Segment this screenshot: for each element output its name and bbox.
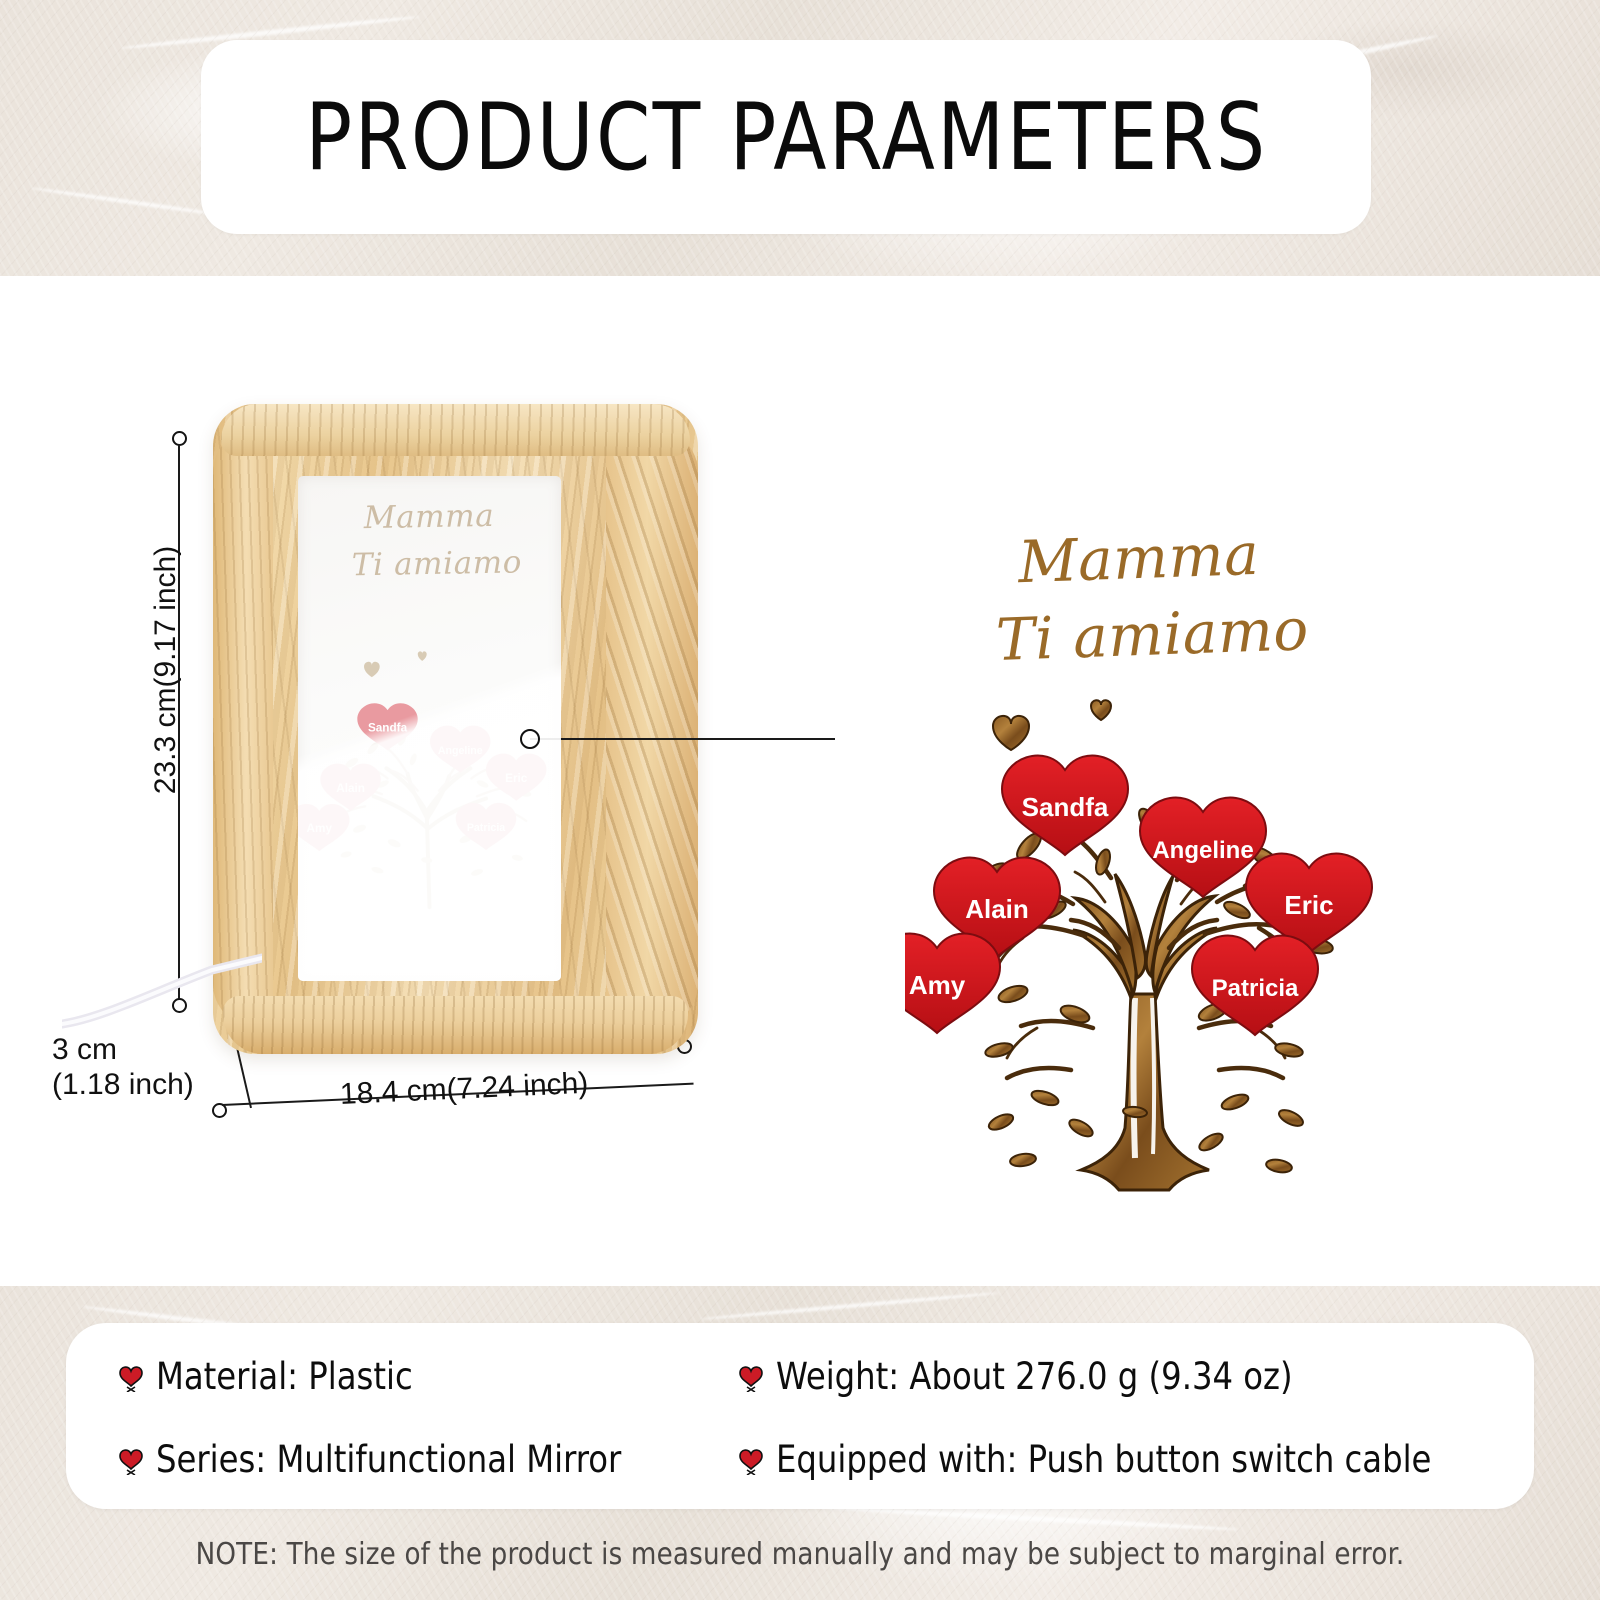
spec-label-weight: Weight: About 276.0 g (9.34 oz)	[776, 1355, 1293, 1398]
heart-bullet-icon	[118, 1445, 144, 1475]
heart-bullet-icon	[118, 1362, 144, 1392]
leader-callout-marker	[520, 729, 540, 749]
svg-text:Angeline: Angeline	[438, 745, 483, 757]
spec-label-series: Series: Multifunctional Mirror	[156, 1438, 621, 1481]
detail-script-text: Mamma Ti amiamo	[902, 512, 1377, 681]
spec-item-series: Series: Multifunctional Mirror	[118, 1438, 738, 1481]
frame-right-edge	[606, 430, 698, 1026]
detail-script-line1: Mamma	[1017, 520, 1260, 596]
svg-text:Alain: Alain	[965, 894, 1029, 924]
panel-script-text: Mamma Ti amiamo	[298, 492, 561, 591]
leader-line	[530, 738, 835, 740]
mirror-panel: Mamma Ti amiamo	[298, 476, 561, 981]
svg-text:Sandfa: Sandfa	[368, 721, 408, 734]
spec-label-equipped-with: Equipped with: Push button switch cable	[776, 1438, 1431, 1481]
panel-name-hearts: Sandfa Angeline Alain Eric	[298, 703, 546, 851]
svg-text:Amy: Amy	[909, 970, 966, 1000]
svg-text:Eric: Eric	[505, 772, 528, 785]
spec-item-material: Material: Plastic	[118, 1355, 738, 1398]
frame-top-edge	[221, 404, 690, 456]
svg-text:Sandfa: Sandfa	[1022, 792, 1109, 822]
frame-left-edge	[213, 430, 273, 1026]
svg-text:Amy: Amy	[307, 822, 333, 835]
detail-illustration: Mamma Ti amiamo	[905, 520, 1375, 1200]
dim-label-height: 23.3 cm(9.17 inch)	[148, 460, 183, 880]
header-card: PRODUCT PARAMETERS	[201, 40, 1371, 234]
svg-text:Angeline: Angeline	[1152, 837, 1253, 864]
spec-label-material: Material: Plastic	[156, 1355, 413, 1398]
specifications-card: Material: Plastic Weight: About 276.0 g …	[66, 1323, 1534, 1509]
svg-text:Patricia: Patricia	[1212, 975, 1299, 1002]
spec-item-weight: Weight: About 276.0 g (9.34 oz)	[738, 1355, 1586, 1398]
heart-bullet-icon	[738, 1362, 764, 1392]
svg-text:Eric: Eric	[1284, 890, 1333, 920]
page-title: PRODUCT PARAMETERS	[305, 91, 1267, 184]
measurement-note: NOTE: The size of the product is measure…	[24, 1537, 1576, 1572]
spec-item-equipped-with: Equipped with: Push button switch cable	[738, 1438, 1586, 1481]
product-photo-frame: Mamma Ti amiamo	[213, 404, 698, 1054]
detail-family-tree: Sandfa Angeline Alain Eric Amy	[905, 698, 1375, 1198]
power-cable	[62, 952, 262, 1032]
panel-script-line1: Mamma	[364, 498, 495, 536]
dim-label-depth: 3 cm (1.18 inch)	[52, 1032, 194, 1103]
svg-text:Patricia: Patricia	[467, 822, 505, 834]
panel-family-tree: Sandfa Angeline Alain Eric	[298, 604, 561, 964]
infographic-page: PRODUCT PARAMETERS 23.3 cm(9.17 inch) 3 …	[0, 0, 1600, 1600]
panel-script-line2: Ti amiamo	[312, 539, 561, 590]
svg-text:Alain: Alain	[336, 782, 365, 795]
frame-bottom-edge	[223, 996, 688, 1054]
detail-script-line2: Ti amiamo	[927, 588, 1377, 680]
heart-bullet-icon	[738, 1445, 764, 1475]
